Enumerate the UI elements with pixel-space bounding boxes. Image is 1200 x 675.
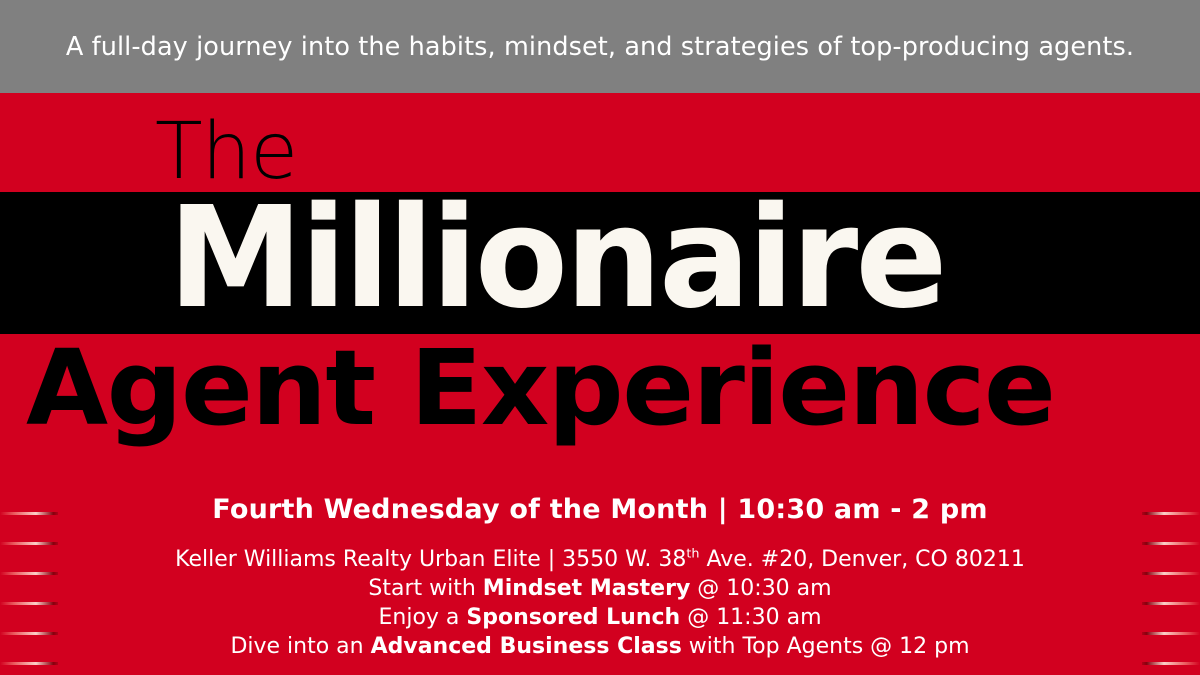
schedule-highlight: Sponsored Lunch — [466, 605, 680, 630]
schedule-suffix: @ 11:30 am — [680, 605, 821, 630]
schedule-suffix: @ 10:30 am — [690, 576, 831, 601]
schedule-item: Dive into an Advanced Business Class wit… — [0, 632, 1200, 661]
schedule-prefix: Enjoy a — [378, 605, 466, 630]
schedule-highlight: Mindset Mastery — [483, 576, 691, 601]
schedule-highlight: Advanced Business Class — [371, 634, 682, 659]
tagline-text: A full-day journey into the habits, mind… — [66, 32, 1134, 62]
title-line-millionaire: Millionaire — [168, 189, 945, 329]
tagline-band: A full-day journey into the habits, mind… — [0, 0, 1200, 93]
schedule-item: Start with Mindset Mastery @ 10:30 am — [0, 574, 1200, 603]
event-venue-address: Keller Williams Realty Urban Elite | 355… — [0, 545, 1200, 574]
title-line-agent-experience: Agent Experience — [26, 336, 1200, 440]
event-poster: A full-day journey into the habits, mind… — [0, 0, 1200, 675]
venue-text-suffix: Ave. #20, Denver, CO 80211 — [699, 547, 1024, 572]
venue-text-prefix: Keller Williams Realty Urban Elite | 355… — [175, 547, 686, 572]
event-details: Fourth Wednesday of the Month | 10:30 am… — [0, 494, 1200, 661]
schedule-suffix: with Top Agents @ 12 pm — [682, 634, 970, 659]
venue-ordinal-suffix: th — [686, 547, 699, 562]
schedule-prefix: Start with — [368, 576, 482, 601]
schedule-prefix: Dive into an — [230, 634, 370, 659]
event-schedule-headline: Fourth Wednesday of the Month | 10:30 am… — [0, 494, 1200, 525]
schedule-item: Enjoy a Sponsored Lunch @ 11:30 am — [0, 603, 1200, 632]
